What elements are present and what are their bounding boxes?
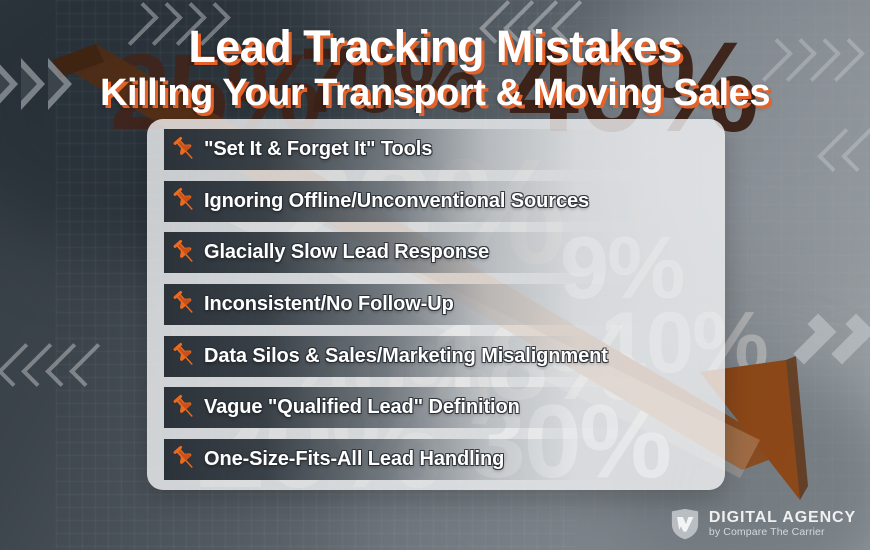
chevron-right-icon <box>786 314 837 365</box>
brand-tagline: by Compare The Carrier <box>709 527 856 538</box>
chevron-left-outline-icon <box>45 343 89 387</box>
chevron-left-outline-icon <box>841 128 870 172</box>
list-item-label: "Set It & Forget It" Tools <box>204 138 432 161</box>
list-item-label: Inconsistent/No Follow-Up <box>204 293 454 316</box>
pushpin-icon <box>168 289 198 319</box>
list-item-label: Data Silos & Sales/Marketing Misalignmen… <box>204 345 608 368</box>
brand-name: DIGITAL AGENCY <box>709 510 856 527</box>
pushpin-icon <box>168 393 198 423</box>
list-item[interactable]: One-Size-Fits-All Lead Handling <box>164 439 721 480</box>
list-item[interactable]: Glacially Slow Lead Response <box>164 232 721 273</box>
chevron-left-outline-icon <box>69 343 113 387</box>
pushpin-icon <box>168 135 198 165</box>
pushpin-icon <box>168 238 198 268</box>
list-item[interactable]: Ignoring Offline/Unconventional Sources <box>164 181 721 222</box>
list-item-label: One-Size-Fits-All Lead Handling <box>204 448 504 471</box>
mistakes-card: "Set It & Forget It" Tools Ignoring Offl… <box>147 119 725 490</box>
shield-checkmark-icon <box>670 508 700 540</box>
chevron-right-icon <box>824 314 870 365</box>
pushpin-icon <box>168 444 198 474</box>
chevron-left-outline-icon <box>0 343 41 387</box>
title-line-1: Lead Tracking Mistakes <box>0 24 870 69</box>
title-line-2: Killing Your Transport & Moving Sales <box>0 74 870 112</box>
poster-canvas: 25% 70% 40% 20% 9% 18% 10% 40% 20% 30% <box>0 0 870 550</box>
brand-logo[interactable]: DIGITAL AGENCY by Compare The Carrier <box>670 508 856 540</box>
poster-title: Lead Tracking Mistakes Killing Your Tran… <box>0 24 870 112</box>
list-item[interactable]: Vague "Qualified Lead" Definition <box>164 387 721 428</box>
chevron-left-outline-icon <box>21 343 65 387</box>
list-item-label: Vague "Qualified Lead" Definition <box>204 396 520 419</box>
pushpin-icon <box>168 341 198 371</box>
list-item-label: Ignoring Offline/Unconventional Sources <box>204 190 589 213</box>
list-item[interactable]: Inconsistent/No Follow-Up <box>164 284 721 325</box>
list-item[interactable]: "Set It & Forget It" Tools <box>164 129 721 170</box>
list-item[interactable]: Data Silos & Sales/Marketing Misalignmen… <box>164 336 721 377</box>
chevron-left-outline-icon <box>817 128 861 172</box>
list-item-label: Glacially Slow Lead Response <box>204 241 489 264</box>
brand-logo-text: DIGITAL AGENCY by Compare The Carrier <box>709 510 856 539</box>
pushpin-icon <box>168 186 198 216</box>
